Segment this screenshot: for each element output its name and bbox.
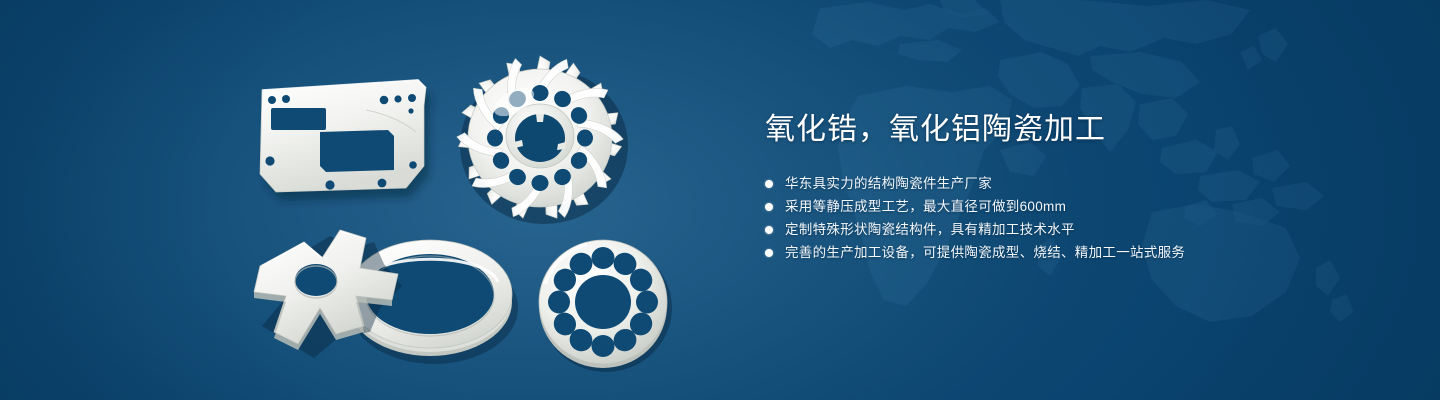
banner-copy: 氧化锆，氧化铝陶瓷加工 华东具实力的结构陶瓷件生产厂家 采用等静压成型工艺，最大… (765, 110, 1365, 264)
feature-bullet-list: 华东具实力的结构陶瓷件生产厂家 采用等静压成型工艺，最大直径可做到600mm 定… (765, 172, 1365, 264)
feature-bullet-text: 采用等静压成型工艺，最大直径可做到600mm (785, 195, 1066, 218)
feature-bullet-item: 华东具实力的结构陶瓷件生产厂家 (765, 172, 1365, 195)
feature-bullet-text: 华东具实力的结构陶瓷件生产厂家 (785, 172, 992, 195)
bullet-dot-icon (765, 203, 773, 211)
bullet-dot-icon (765, 180, 773, 188)
bullet-dot-icon (765, 249, 773, 257)
feature-bullet-text: 定制特殊形状陶瓷结构件，具有精加工技术水平 (785, 218, 1075, 241)
product-image-ceramic-plate (248, 66, 458, 201)
bullet-dot-icon (765, 226, 773, 234)
product-image-ceramic-cross (248, 222, 433, 367)
product-image-ceramic-disc (521, 224, 691, 384)
hero-banner: 氧化锆，氧化铝陶瓷加工 华东具实力的结构陶瓷件生产厂家 采用等静压成型工艺，最大… (0, 0, 1440, 400)
feature-bullet-item: 完善的生产加工设备，可提供陶瓷成型、烧结、精加工一站式服务 (765, 241, 1365, 264)
product-image-ceramic-impeller (440, 46, 640, 231)
feature-bullet-text: 完善的生产加工设备，可提供陶瓷成型、烧结、精加工一站式服务 (785, 241, 1185, 264)
feature-bullet-item: 定制特殊形状陶瓷结构件，具有精加工技术水平 (765, 218, 1365, 241)
feature-bullet-item: 采用等静压成型工艺，最大直径可做到600mm (765, 195, 1365, 218)
banner-headline: 氧化锆，氧化铝陶瓷加工 (765, 110, 1365, 150)
